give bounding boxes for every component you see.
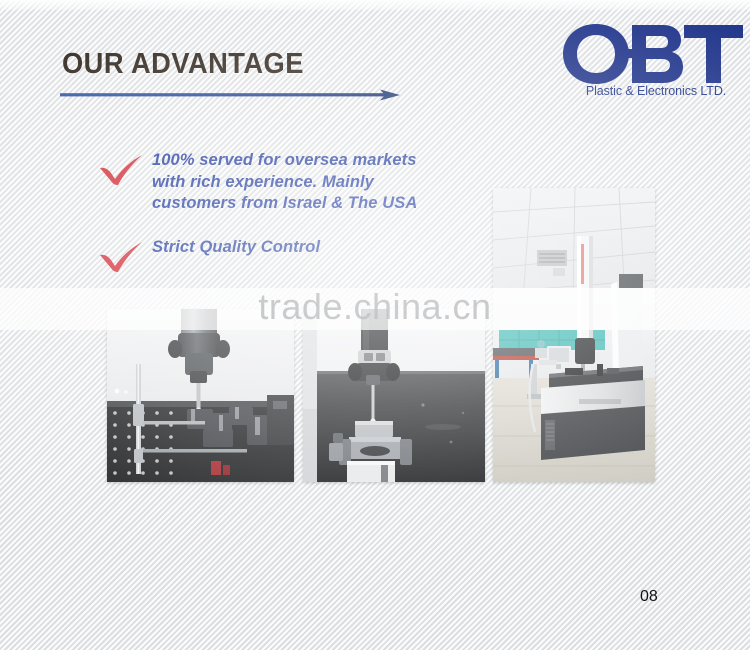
right-arrow-icon <box>60 88 400 100</box>
page-number: 08 <box>640 588 658 606</box>
company-logo: Plastic & Electronics LTD. <box>560 22 746 110</box>
list-item: 100% served for oversea markets with ric… <box>98 150 498 215</box>
check-mark-icon <box>98 152 144 186</box>
advantage-bullet-list: 100% served for oversea markets with ric… <box>98 150 498 273</box>
cmm-probe-fixture-plate-photo <box>107 309 294 482</box>
list-item: Strict Quality Control <box>98 237 498 273</box>
check-mark-icon <box>98 239 144 273</box>
bullet-1-line-2: with rich experience. Mainly <box>152 173 374 191</box>
top-light-band <box>0 0 750 10</box>
logo-subtitle: Plastic & Electronics LTD. <box>566 84 746 98</box>
obt-logo-icon <box>560 22 746 86</box>
bullet-1-line-1: 100% served for oversea markets <box>152 151 417 169</box>
bullet-2-line-1: Strict Quality Control <box>152 238 320 256</box>
list-item-label: 100% served for oversea markets with ric… <box>144 150 417 215</box>
bullet-1-line-3: customers from Israel & The USA <box>152 194 417 212</box>
cmm-probe-metal-part-photo <box>303 309 485 482</box>
slide-canvas: OUR ADVANTAGE <box>0 0 750 650</box>
cmm-machine-lab-photo <box>493 188 655 482</box>
list-item-label: Strict Quality Control <box>144 237 320 259</box>
page-title: OUR ADVANTAGE <box>62 48 304 81</box>
